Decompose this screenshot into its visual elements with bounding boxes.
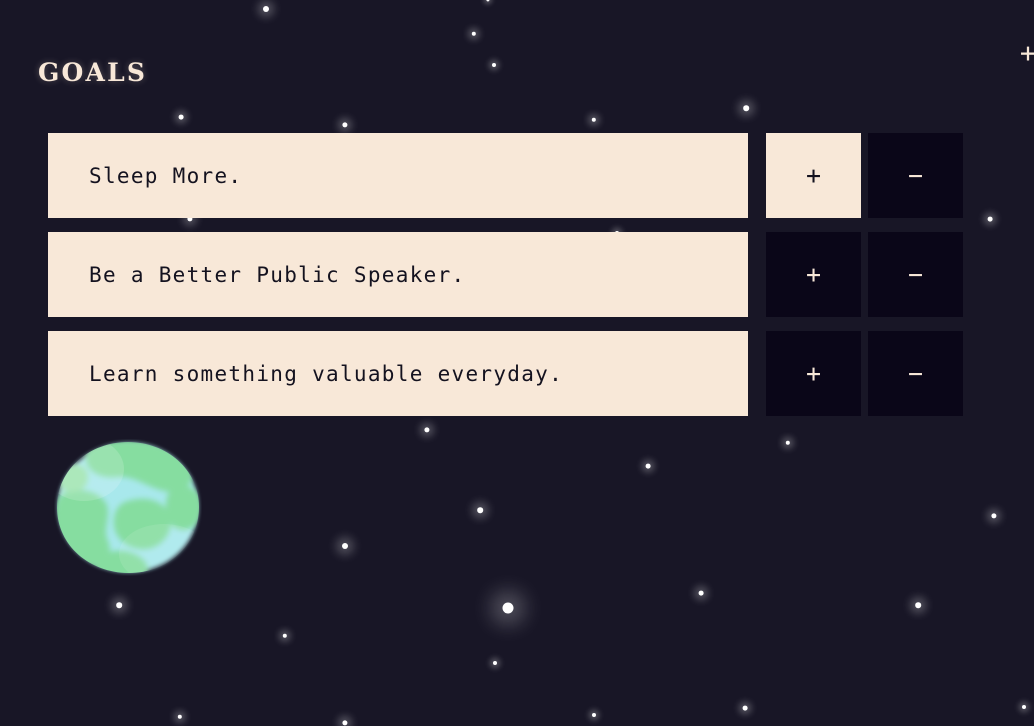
goal-text: Be a Better Public Speaker.: [89, 263, 465, 287]
goal-row: Sleep More.+−: [48, 133, 964, 218]
earth-planet-icon: [54, 439, 202, 576]
goal-decrement-button[interactable]: −: [868, 331, 963, 416]
page-root: GOALS Sleep More.+−Be a Better Public Sp…: [0, 0, 1034, 726]
page-title: GOALS: [38, 58, 147, 87]
goal-increment-button[interactable]: +: [766, 133, 861, 218]
goal-card[interactable]: Be a Better Public Speaker.: [48, 232, 748, 317]
goal-decrement-button[interactable]: −: [868, 232, 963, 317]
goal-increment-button[interactable]: +: [766, 232, 861, 317]
goal-card[interactable]: Sleep More.: [48, 133, 748, 218]
goal-increment-button[interactable]: +: [766, 331, 861, 416]
plus-icon: +: [806, 163, 821, 188]
goal-list: Sleep More.+−Be a Better Public Speaker.…: [48, 133, 964, 430]
minus-icon: −: [908, 262, 923, 287]
goal-decrement-button[interactable]: −: [868, 133, 963, 218]
goal-text: Learn something valuable everyday.: [89, 362, 563, 386]
minus-icon: −: [908, 361, 923, 386]
goal-row: Be a Better Public Speaker.+−: [48, 232, 964, 317]
corner-add-button[interactable]: +: [1013, 38, 1034, 68]
plus-icon: +: [1020, 40, 1034, 67]
goal-text: Sleep More.: [89, 164, 242, 188]
plus-icon: +: [806, 361, 821, 386]
goal-row: Learn something valuable everyday.+−: [48, 331, 964, 416]
goal-card[interactable]: Learn something valuable everyday.: [48, 331, 748, 416]
plus-icon: +: [806, 262, 821, 287]
minus-icon: −: [908, 163, 923, 188]
